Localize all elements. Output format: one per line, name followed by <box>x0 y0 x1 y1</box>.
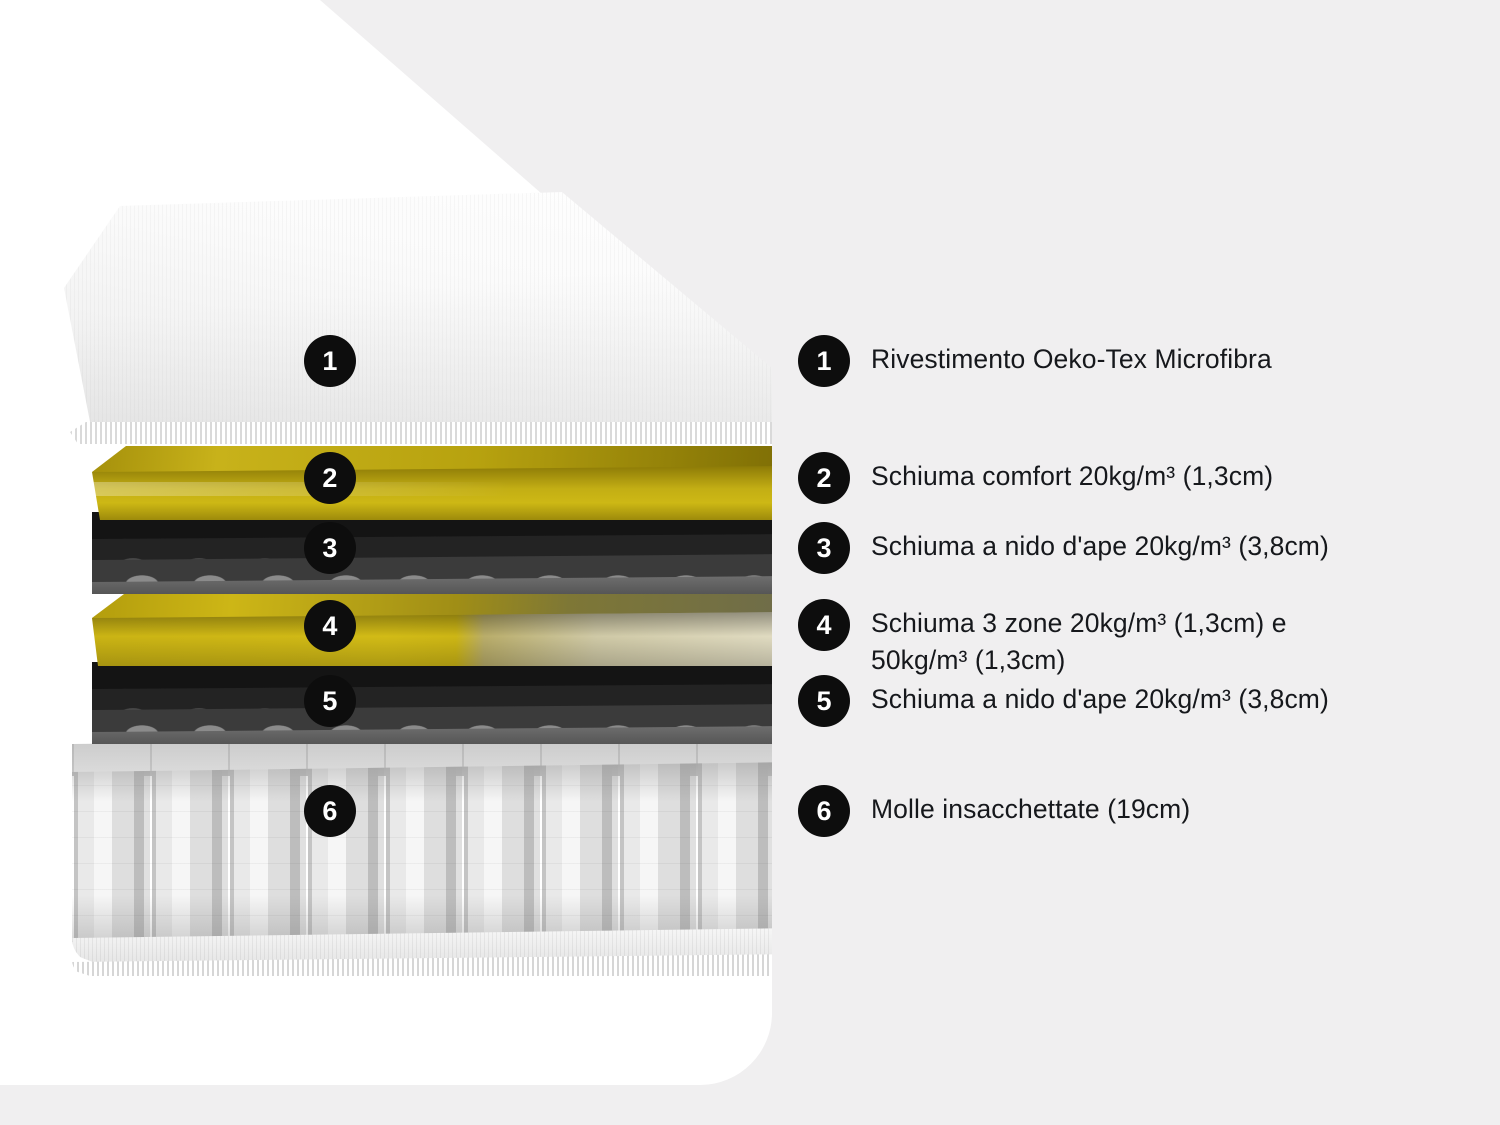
product-badge-1[interactable]: 1 <box>304 335 356 387</box>
legend-item-1[interactable]: 1 Rivestimento Oeko-Tex Microfibra <box>798 335 1272 387</box>
honeycomb-foam-layer-lower <box>92 662 772 742</box>
legend-badge-5: 5 <box>798 675 850 727</box>
legend-item-2[interactable]: 2 Schiuma comfort 20kg/m³ (1,3cm) <box>798 452 1273 504</box>
legend-item-6[interactable]: 6 Molle insacchettate (19cm) <box>798 785 1190 837</box>
legend-badge-3: 3 <box>798 522 850 574</box>
legend-badge-6: 6 <box>798 785 850 837</box>
cover-shading <box>62 192 772 444</box>
honeycomb-foam-layer-upper <box>92 512 772 592</box>
legend-label-2: Schiuma comfort 20kg/m³ (1,3cm) <box>871 452 1273 495</box>
pocket-springs-layer <box>72 736 772 986</box>
legend-label-5: Schiuma a nido d'ape 20kg/m³ (3,8cm) <box>871 675 1329 718</box>
legend-badge-2: 2 <box>798 452 850 504</box>
product-badge-4[interactable]: 4 <box>304 600 356 652</box>
legend-label-3: Schiuma a nido d'ape 20kg/m³ (3,8cm) <box>871 522 1329 565</box>
legend-label-1: Rivestimento Oeko-Tex Microfibra <box>871 335 1272 378</box>
product-badge-6[interactable]: 6 <box>304 785 356 837</box>
legend-label-6: Molle insacchettate (19cm) <box>871 785 1190 828</box>
mattress-cutaway-illustration: 1 2 3 4 5 6 <box>0 0 772 1125</box>
legend-label-4: Schiuma 3 zone 20kg/m³ (1,3cm) e 50kg/m³… <box>871 599 1287 679</box>
product-badge-3[interactable]: 3 <box>304 522 356 574</box>
three-zone-foam-layer <box>92 594 772 666</box>
product-badge-5[interactable]: 5 <box>304 675 356 727</box>
foam-slab-shading <box>92 612 772 666</box>
legend-badge-1: 1 <box>798 335 850 387</box>
legend-item-5[interactable]: 5 Schiuma a nido d'ape 20kg/m³ (3,8cm) <box>798 675 1329 727</box>
spring-shading <box>72 762 772 942</box>
product-badge-2[interactable]: 2 <box>304 452 356 504</box>
cover-piping <box>70 422 772 444</box>
layer-legend: 1 Rivestimento Oeko-Tex Microfibra 2 Sch… <box>798 0 1500 1125</box>
comfort-foam-layer <box>92 446 772 520</box>
legend-item-3[interactable]: 3 Schiuma a nido d'ape 20kg/m³ (3,8cm) <box>798 522 1329 574</box>
legend-badge-4: 4 <box>798 599 850 651</box>
legend-item-4[interactable]: 4 Schiuma 3 zone 20kg/m³ (1,3cm) e 50kg/… <box>798 599 1287 679</box>
foam-slab-highlight <box>92 482 772 496</box>
cover-layer <box>62 192 772 444</box>
mattress-layers-infographic: 1 2 3 4 5 6 1 Rivestimento Oeko-Tex Micr… <box>0 0 1500 1125</box>
